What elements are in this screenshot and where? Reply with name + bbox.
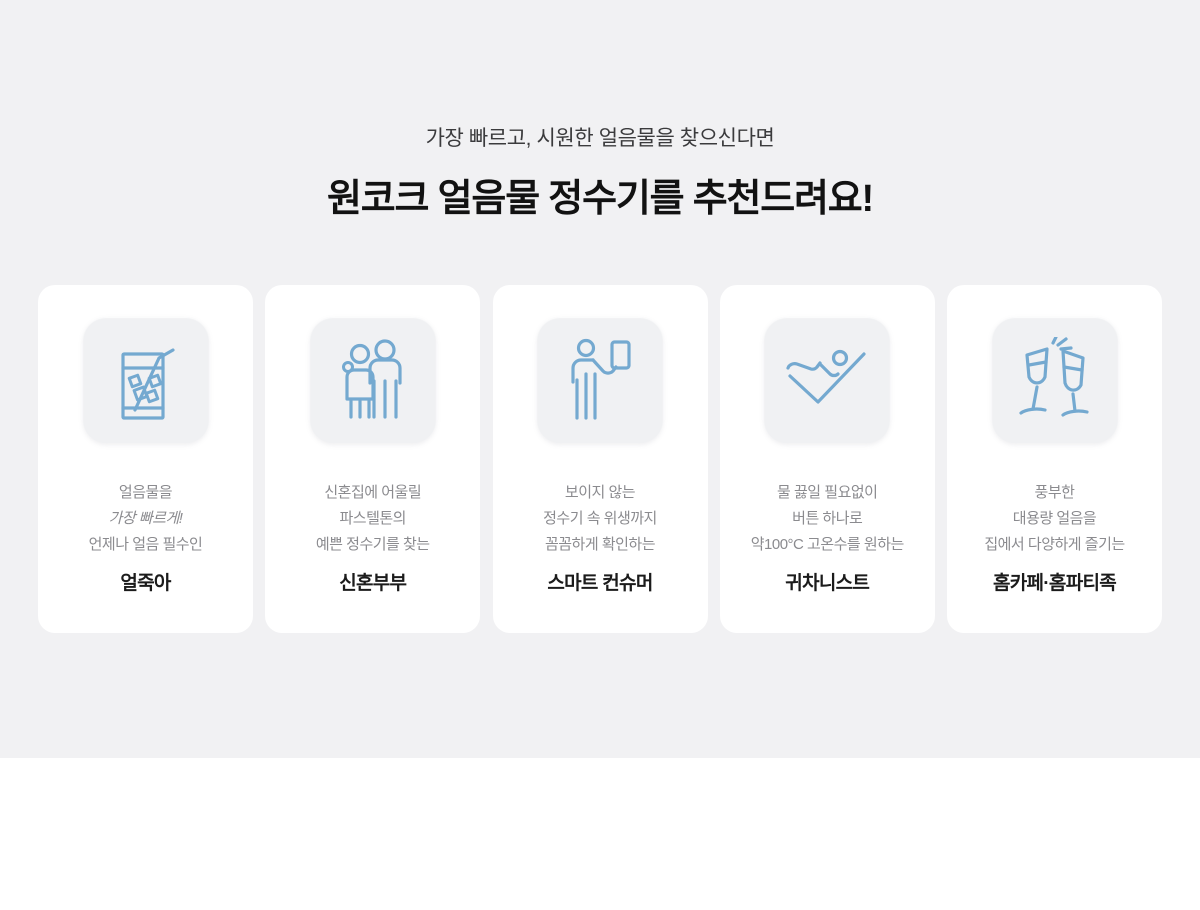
page-title: 원코크 얼음물 정수기를 추천드려요! xyxy=(0,174,1200,224)
persona-name: 얼죽아 xyxy=(43,571,248,597)
description-line: 언제나 얼음 필수인 xyxy=(43,532,248,558)
lounging-person-check-icon xyxy=(764,317,890,443)
persona-name: 스마트 컨슈머 xyxy=(498,571,703,597)
description-line: 보이지 않는 xyxy=(498,480,703,506)
page-subtitle: 가장 빠르고, 시원한 얼음물을 찾으신다면 xyxy=(0,124,1200,154)
description-line: 대용량 얼음을 xyxy=(952,506,1157,532)
description-line: 파스텔톤의 xyxy=(270,506,475,532)
persona-name: 신혼부부 xyxy=(270,571,475,597)
persona-name: 귀차니스트 xyxy=(725,571,930,597)
persona-card-home-cafe[interactable]: 풍부한 대용량 얼음을 집에서 다양하게 즐기는 홈카페·홈파티족 xyxy=(947,285,1162,633)
persona-card-smart-consumer[interactable]: 보이지 않는 정수기 속 위생까지 꼼꼼하게 확인하는 스마트 컨슈머 xyxy=(493,285,708,633)
couple-icon xyxy=(310,317,436,443)
description-line: 신혼집에 어울릴 xyxy=(270,480,475,506)
description-line: 약100°C 고온수를 원하는 xyxy=(725,532,930,558)
persona-card-newlyweds[interactable]: 신혼집에 어울릴 파스텔톤의 예쁜 정수기를 찾는 신혼부부 xyxy=(265,285,480,633)
description-line: 가장 빠르게! xyxy=(43,506,248,532)
description-line: 버튼 하나로 xyxy=(725,506,930,532)
description-line: 물 끓일 필요없이 xyxy=(725,480,930,506)
persona-description: 얼음물을 가장 빠르게! 언제나 얼음 필수인 얼죽아 xyxy=(38,480,253,597)
persona-description: 보이지 않는 정수기 속 위생까지 꼼꼼하게 확인하는 스마트 컨슈머 xyxy=(493,480,708,597)
description-line: 꼼꼼하게 확인하는 xyxy=(498,532,703,558)
description-line: 얼음물을 xyxy=(43,480,248,506)
persona-description: 풍부한 대용량 얼음을 집에서 다양하게 즐기는 홈카페·홈파티족 xyxy=(947,480,1162,597)
description-line: 집에서 다양하게 즐기는 xyxy=(952,532,1157,558)
persona-card-lazy-person[interactable]: 물 끓일 필요없이 버튼 하나로 약100°C 고온수를 원하는 귀차니스트 xyxy=(720,285,935,633)
landing-page: 가장 빠르고, 시원한 얼음물을 찾으신다면 원코크 얼음물 정수기를 추천드려… xyxy=(0,0,1200,910)
description-line: 풍부한 xyxy=(952,480,1157,506)
persona-description: 물 끓일 필요없이 버튼 하나로 약100°C 고온수를 원하는 귀차니스트 xyxy=(720,480,935,597)
description-line: 정수기 속 위생까지 xyxy=(498,506,703,532)
persona-name: 홈카페·홈파티족 xyxy=(952,571,1157,597)
person-with-tablet-icon xyxy=(537,317,663,443)
iced-drink-glass-icon xyxy=(83,317,209,443)
champagne-toast-icon xyxy=(992,317,1118,443)
persona-card-list: 얼음물을 가장 빠르게! 언제나 얼음 필수인 얼죽아 xyxy=(38,285,1162,633)
heading-block: 가장 빠르고, 시원한 얼음물을 찾으신다면 원코크 얼음물 정수기를 추천드려… xyxy=(0,124,1200,224)
persona-card-eoljugda[interactable]: 얼음물을 가장 빠르게! 언제나 얼음 필수인 얼죽아 xyxy=(38,285,253,633)
persona-description: 신혼집에 어울릴 파스텔톤의 예쁜 정수기를 찾는 신혼부부 xyxy=(265,480,480,597)
description-line: 예쁜 정수기를 찾는 xyxy=(270,532,475,558)
